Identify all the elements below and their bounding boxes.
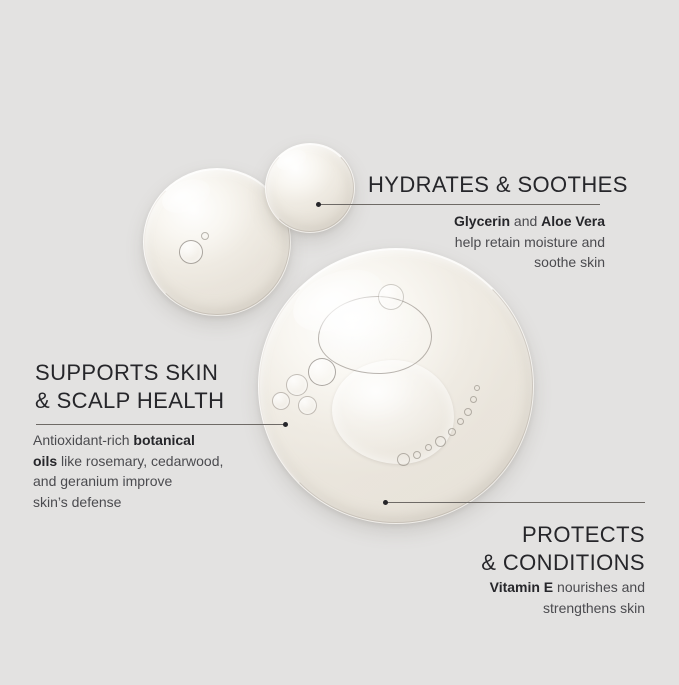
bubble-ring [378,284,404,310]
bubble-ring [179,240,203,264]
bubble-micro [413,451,421,459]
leader-line-protects [387,502,645,503]
leader-line-supports [36,424,286,425]
callout-body-hydrates-soothes: Glycerin and Aloe Verahelp retain moistu… [345,211,605,273]
serum-swirl [332,360,454,464]
serum-drop-small-icon [265,143,355,233]
callout-body-protects-conditions: Vitamin E nourishes andstrengthens skin [400,577,645,618]
callout-body-supports-skin-scalp-health: Antioxidant-rich botanicaloils like rose… [33,430,258,512]
bubble-micro [435,436,446,447]
bubble-dome [318,296,432,374]
bubble-micro [457,418,464,425]
leader-dot-hydrates [316,202,321,207]
bubble-ring [272,392,290,410]
bubble-micro [201,232,209,240]
bubble-ring [286,374,308,396]
bubble-micro [474,385,480,391]
callout-headline-hydrates-soothes: HYDRATES & SOOTHES [368,171,628,199]
bubble-micro [470,396,477,403]
bubble-micro [397,453,410,466]
bubble-ring [308,358,336,386]
callout-headline-protects-conditions: PROTECTS & CONDITIONS [420,521,645,577]
bubble-micro [448,428,456,436]
leader-line-hydrates [320,204,600,205]
bubble-ring [298,396,317,415]
callout-headline-supports-skin-scalp-health: SUPPORTS SKIN & SCALP HEALTH [35,359,224,415]
bubble-micro [425,444,432,451]
leader-dot-supports [283,422,288,427]
bubble-micro [464,408,472,416]
leader-dot-protects [383,500,388,505]
infographic-canvas: HYDRATES & SOOTHES Glycerin and Aloe Ver… [0,0,679,685]
serum-drop-large-icon [258,248,534,524]
